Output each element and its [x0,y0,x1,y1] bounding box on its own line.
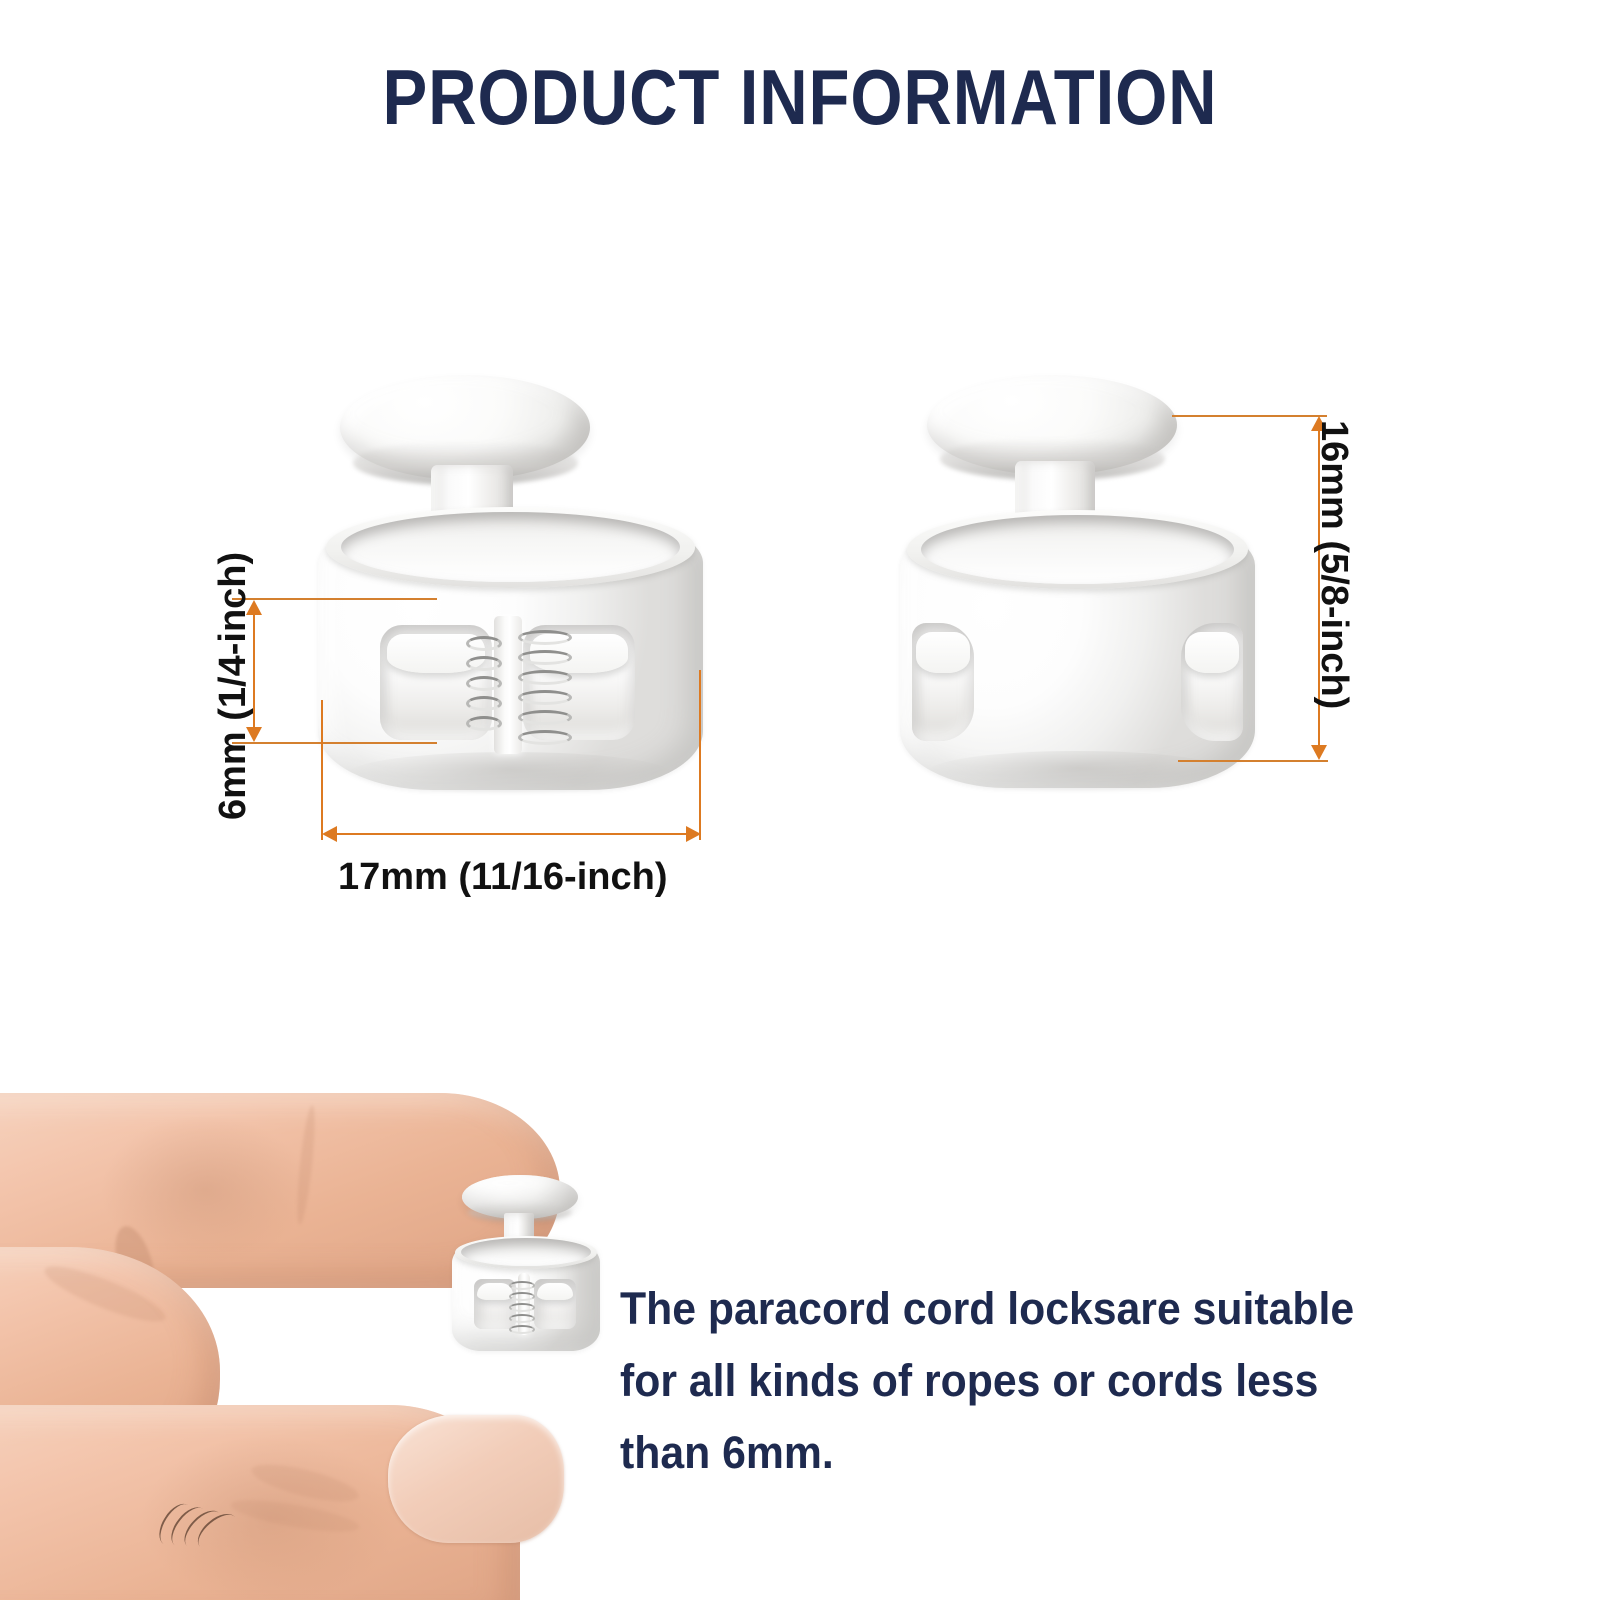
lock-barrel [452,1241,600,1351]
product-information-page: PRODUCT INFORMATION [0,0,1600,1600]
description-line: for all kinds of ropes or cords less [620,1345,1475,1417]
dimension-label-body-height: 16mm (5/8-inch) [1312,420,1355,709]
cord-opening-right [534,1279,576,1329]
thumbnail [388,1415,564,1543]
barrel-base-shadow [349,752,672,795]
description-line: than 6mm. [620,1417,1475,1489]
cord-opening-side-right [1181,623,1243,741]
arrowhead-right [686,826,701,842]
push-button-cap [927,375,1177,475]
cord-opening-side-left [912,623,974,741]
arrowhead-left [322,826,337,842]
extension-line-right [699,670,701,840]
cord-lock-scale-sample [452,1175,612,1355]
coil-spring-left [466,634,502,738]
barrel-inner-rim [461,1238,591,1267]
barrel-inner-rim [921,515,1233,584]
cord-lock-side-view [885,375,1265,795]
lock-barrel [318,520,703,790]
extension-line-left [321,700,323,840]
coil-spring [509,1281,535,1333]
page-title: PRODUCT INFORMATION [112,52,1488,143]
leader-line-top [1172,415,1327,417]
dimension-label-body-width: 17mm (11/16-inch) [338,856,667,899]
cord-lock-front-view [318,375,708,795]
barrel-base-shadow [928,751,1226,793]
leader-line-bottom [232,742,437,744]
arrowhead-down [1311,745,1327,760]
dimension-label-opening-height: 6mm (1/4-inch) [212,552,255,820]
product-photo-stage: 6mm (1/4-inch) 17mm (11/16-inch) 16mm (5… [0,330,1600,950]
product-description: The paracord cord locksare suitable for … [620,1273,1475,1489]
barrel-inner-rim [341,512,680,582]
leader-line-bottom [1178,760,1328,762]
hand-holding-cord-lock [0,1075,640,1600]
dimension-arrow-shaft [324,833,698,835]
coil-spring-right [518,630,572,748]
lock-barrel [900,523,1255,788]
description-line: The paracord cord locksare suitable [620,1273,1475,1345]
leader-line-top [232,598,437,600]
